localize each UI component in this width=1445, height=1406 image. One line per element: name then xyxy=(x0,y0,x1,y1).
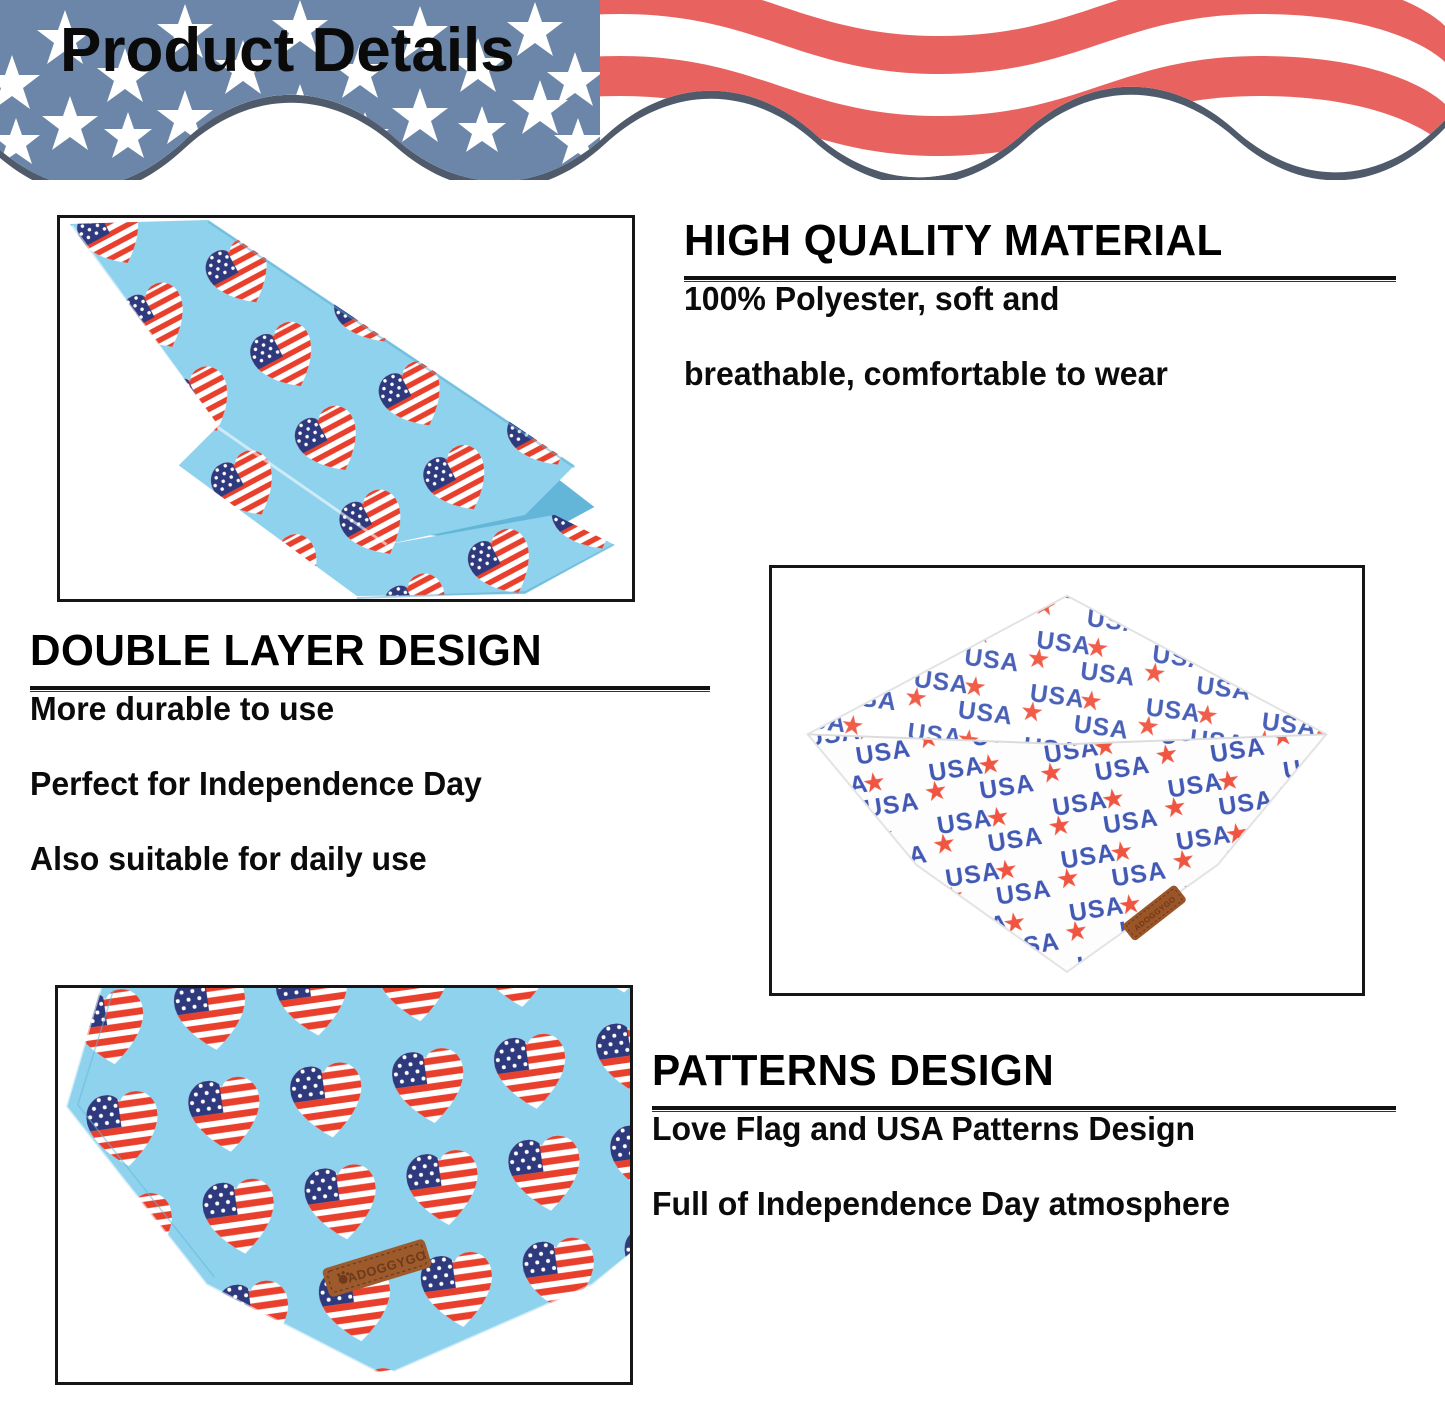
product-photo-flat-bandana: ADOGGYGO xyxy=(55,985,633,1385)
section-line-double-3: Also suitable for daily use xyxy=(30,842,690,875)
section-title-double: DOUBLE LAYER DESIGN xyxy=(30,628,683,674)
usa-bandana-illustration: USA USA xyxy=(772,568,1362,995)
section-patterns-design: PATTERNS DESIGN Love Flag and USA Patter… xyxy=(652,1048,1396,1220)
section-line-patterns-1: Love Flag and USA Patterns Design xyxy=(652,1112,1374,1145)
section-title-material: HIGH QUALITY MATERIAL xyxy=(684,218,1368,264)
flat-bandana-illustration: ADOGGYGO xyxy=(58,988,630,1384)
section-line-double-1: More durable to use xyxy=(30,692,690,725)
section-title-patterns: PATTERNS DESIGN xyxy=(652,1048,1366,1094)
section-line-patterns-2: Full of Independence Day atmosphere xyxy=(652,1187,1374,1220)
product-photo-folded-bandana xyxy=(57,215,635,602)
folded-bandana-illustration xyxy=(60,218,632,601)
section-double-layer-design: DOUBLE LAYER DESIGN More durable to use … xyxy=(30,628,710,875)
product-photo-usa-bandana: USA USA xyxy=(769,565,1365,996)
section-high-quality-material: HIGH QUALITY MATERIAL 100% Polyester, so… xyxy=(684,218,1396,390)
section-line-material-1: 100% Polyester, soft and xyxy=(684,282,1375,315)
page-title: Product Details xyxy=(60,15,515,86)
section-line-material-2: breathable, comfortable to wear xyxy=(684,357,1375,390)
header-flag-banner: Product Details xyxy=(0,0,1445,180)
section-line-double-2: Perfect for Independence Day xyxy=(30,767,690,800)
